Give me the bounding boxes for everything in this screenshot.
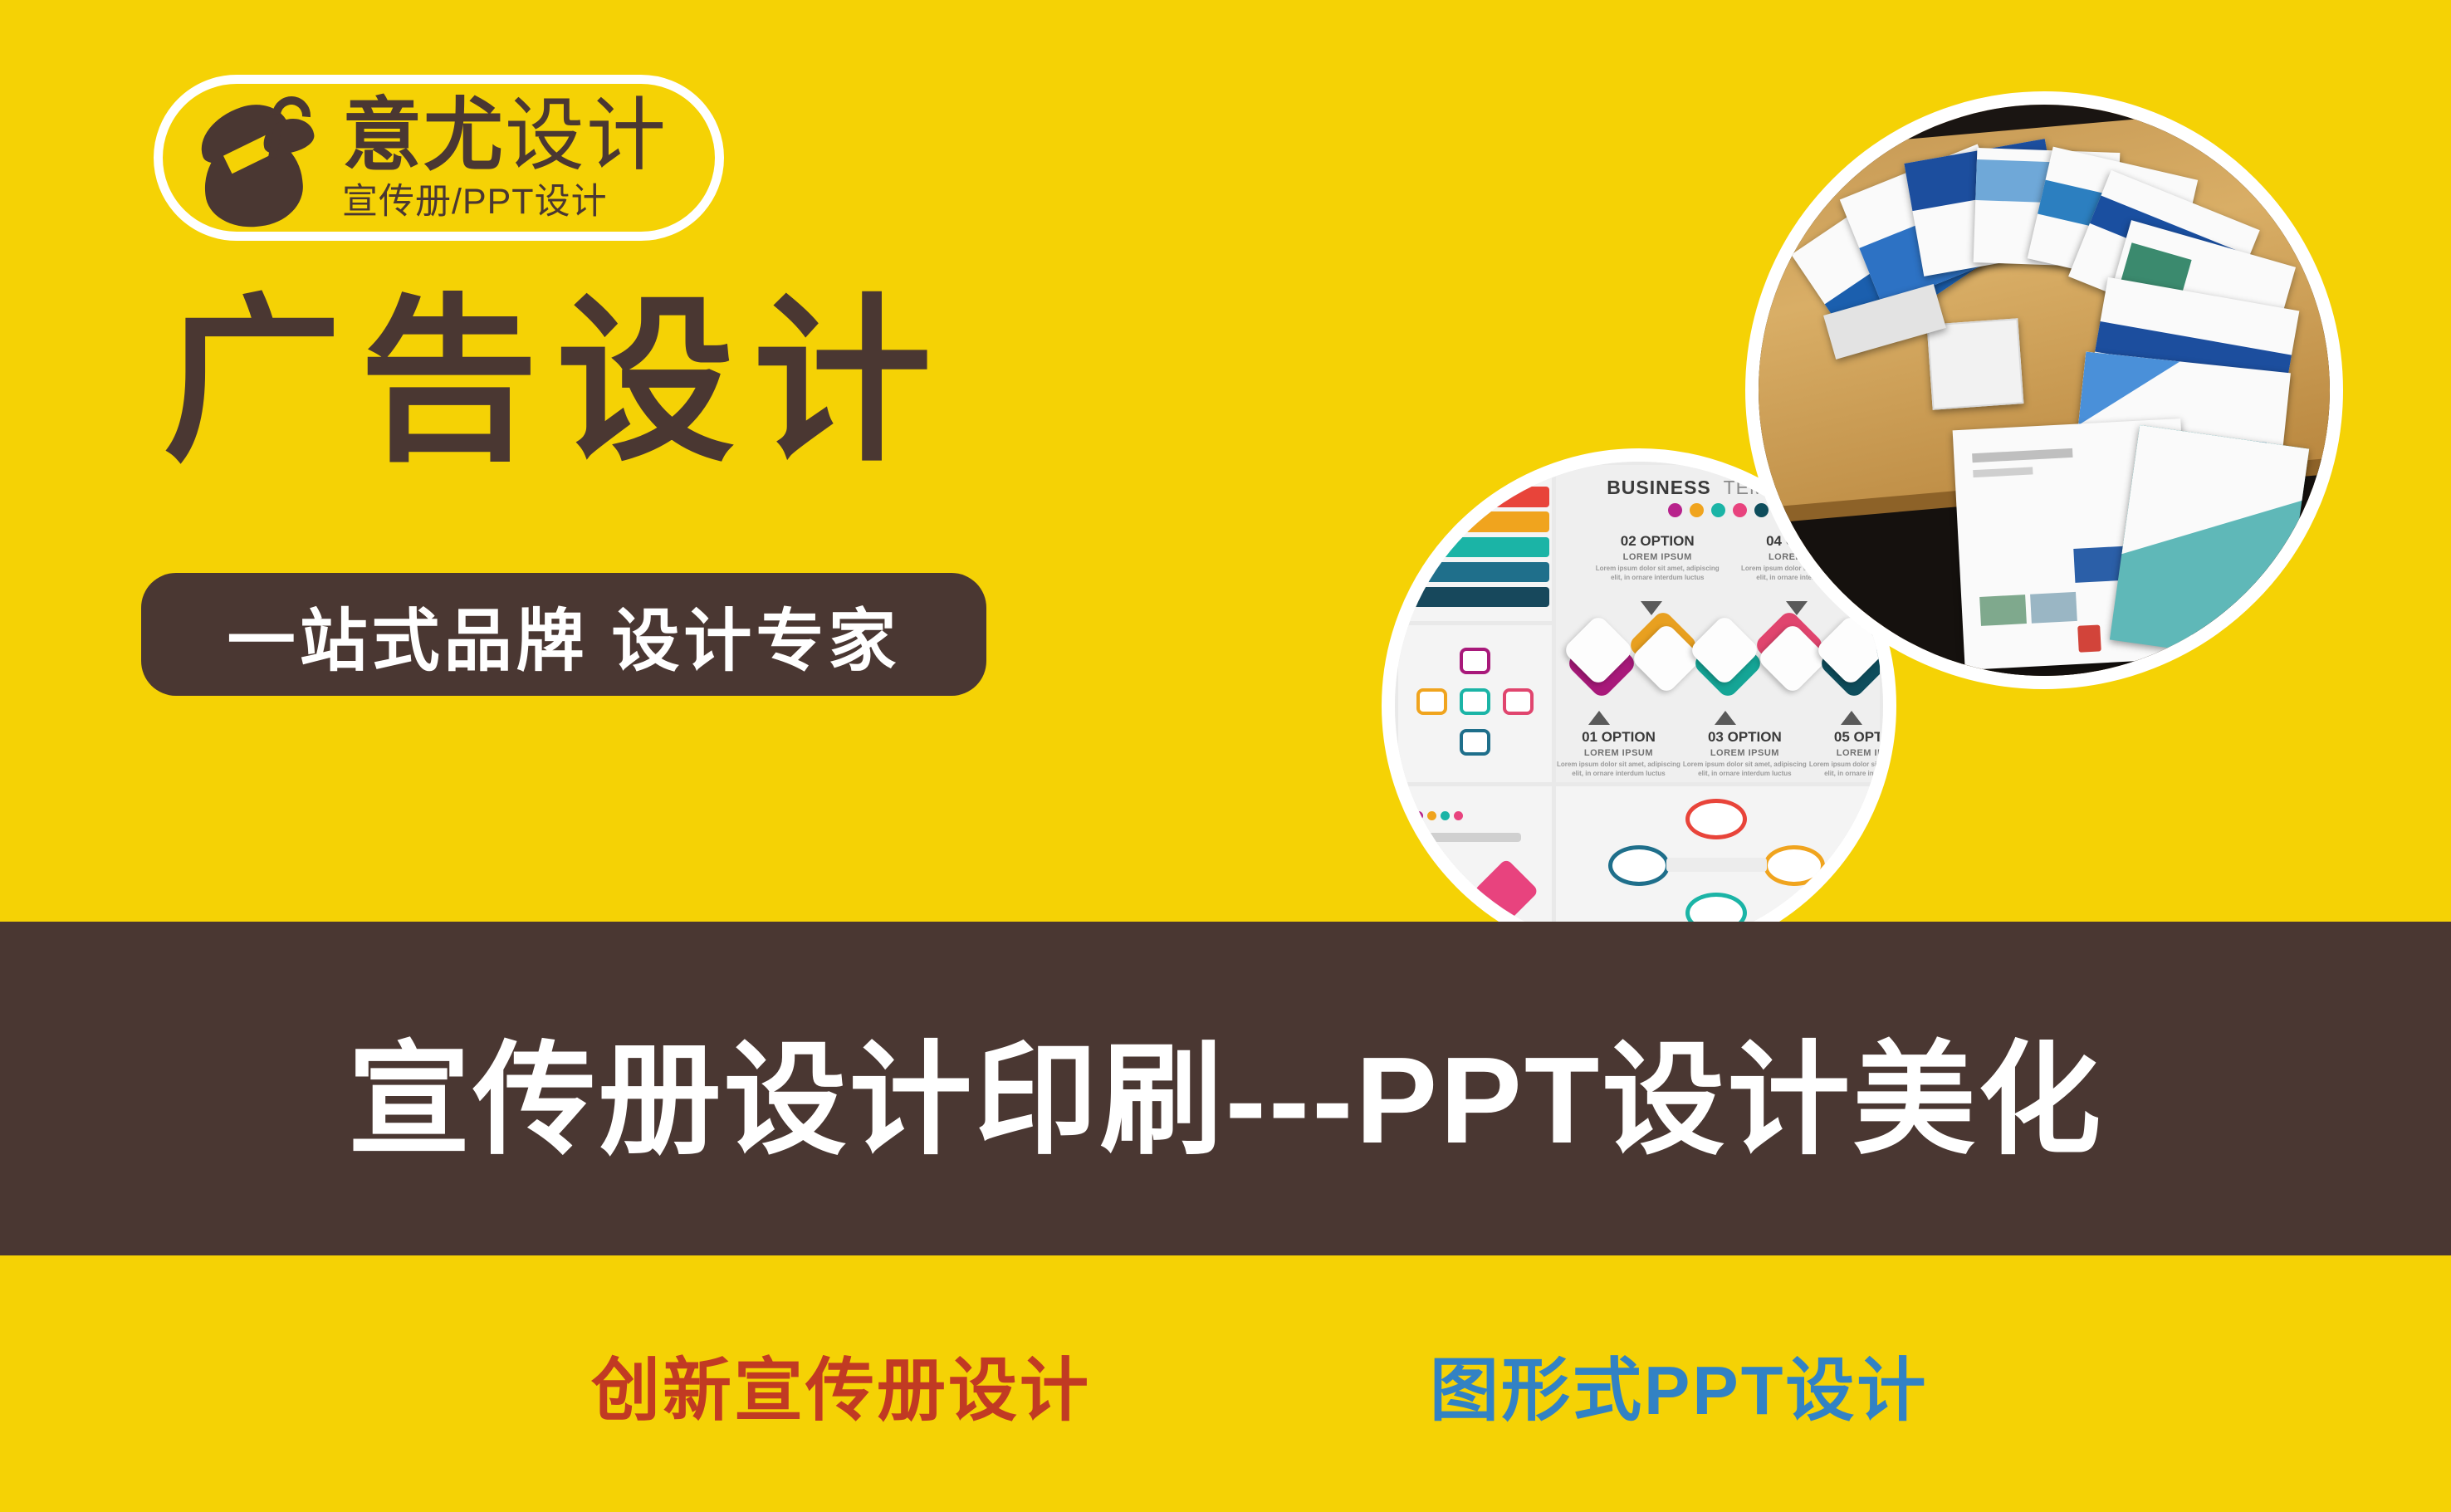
option-label-01: 01 OPTION LOREM IPSUM Lorem ipsum dolor …: [1556, 729, 1680, 779]
world-map-slide: [1398, 786, 1552, 942]
option-label-05: 05 OPTION LOREM IPSUM Lorem ipsum dolor …: [1808, 729, 1880, 779]
print-photo-scene: [1759, 105, 2330, 676]
page-title: 广告设计: [163, 292, 950, 471]
caption-ppt-design: 图形式PPT设计: [1430, 1334, 1928, 1434]
advertisement-banner: 意尤设计 宣传册/PPT设计 广告设计 一站式品牌 设计专家: [0, 0, 2451, 1512]
main-service-text: 宣传册设计印刷---PPT设计美化: [348, 1000, 2104, 1178]
caption-brochure-design: 创新宣传册设计: [591, 1334, 1091, 1434]
brand-logo: 意尤设计 宣传册/PPT设计: [154, 75, 724, 241]
bottom-captions: 创新宣传册设计 图形式PPT设计: [0, 1255, 2451, 1512]
logo-subtitle: 宣传册/PPT设计: [342, 184, 668, 220]
logo-text-block: 意尤设计 宣传册/PPT设计: [342, 96, 668, 220]
brochure-print-photo: [1745, 91, 2343, 689]
tagline-text: 一站式品牌 设计专家: [227, 585, 901, 684]
option-label-03: 03 OPTION LOREM IPSUM Lorem ipsum dolor …: [1682, 729, 1807, 779]
tagline-badge: 一站式品牌 设计专家: [141, 573, 986, 696]
option-label-02: 02 OPTION LOREM IPSUM Lorem ipsum dolor …: [1595, 533, 1720, 583]
sprout-seed-icon: [181, 90, 322, 227]
ribbon-slide: [1398, 465, 1552, 621]
main-service-band: 宣传册设计印刷---PPT设计美化: [0, 922, 2451, 1255]
circle-cycle-slide: [1556, 786, 1880, 942]
cross-matrix-slide: [1398, 625, 1552, 781]
logo-title: 意尤设计: [342, 96, 668, 176]
